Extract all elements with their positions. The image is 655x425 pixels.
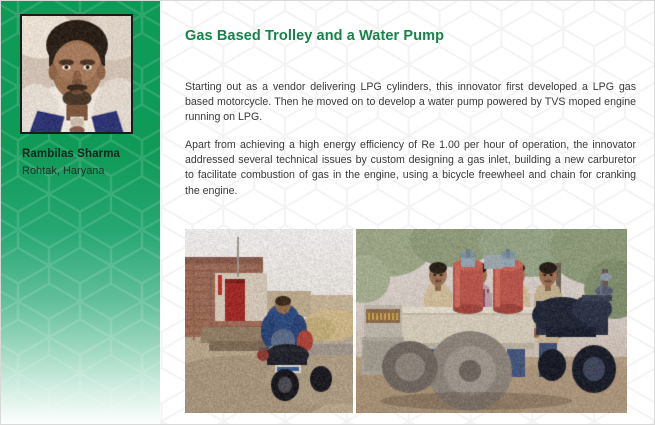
profile-sidebar: Rambilas Sharma Rohtak, Haryana [1,1,160,425]
gallery-photo-left [185,229,353,413]
trolley-group-photo [356,229,627,413]
page-root: Rambilas Sharma Rohtak, Haryana Gas Base… [0,0,655,425]
innovator-name: Rambilas Sharma [22,148,120,160]
avatar [20,14,133,134]
article-paragraph-2: Apart from achieving a high energy effic… [185,138,636,200]
page-title: Gas Based Trolley and a Water Pump [185,28,444,44]
article-content: Gas Based Trolley and a Water Pump Start… [160,1,655,425]
innovator-portrait-photo [22,16,131,132]
trolley-ride-photo [185,229,353,413]
gallery-photo-right [356,229,627,413]
article-paragraph-1: Starting out as a vendor delivering LPG … [185,80,636,126]
innovator-location: Rohtak, Haryana [22,165,105,177]
